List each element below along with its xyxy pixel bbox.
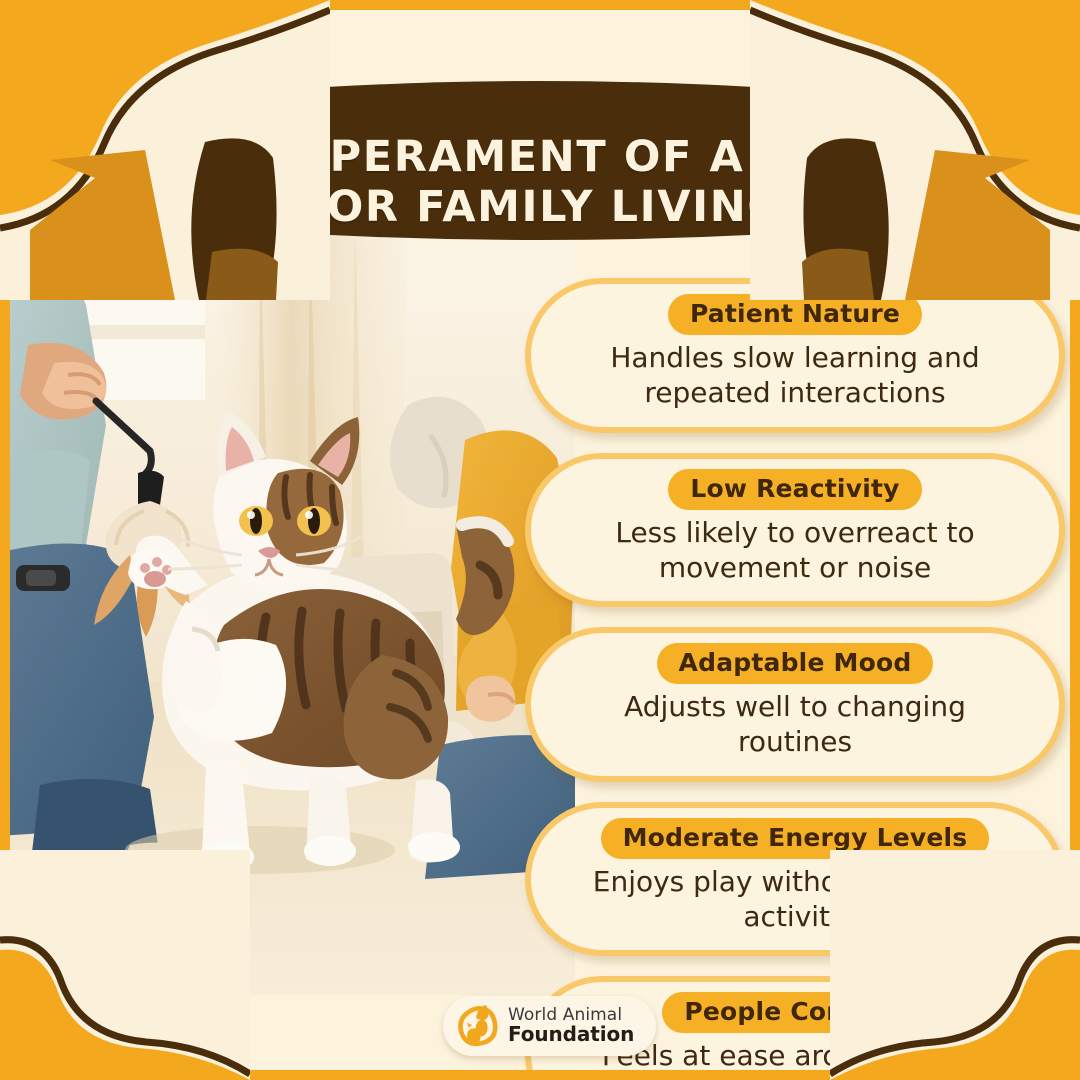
- trait-title: Patient Nature: [668, 294, 922, 335]
- infographic-poster: Temperament of a Cat for Family Living P…: [0, 0, 1080, 1080]
- brand-name-line-2: Foundation: [508, 1024, 634, 1044]
- corner-decoration-bottom-right: [830, 850, 1080, 1080]
- trait-title: Adaptable Mood: [657, 643, 934, 684]
- corner-decoration-bottom-left: [0, 850, 250, 1080]
- trait-description: Adjusts well to changing routines: [557, 689, 1033, 760]
- trait-description: Handles slow learning and repeated inter…: [557, 340, 1033, 411]
- brand-logo-badge[interactable]: World Animal Foundation: [443, 996, 656, 1056]
- trait-title: Low Reactivity: [668, 469, 921, 510]
- trait-card[interactable]: Patient Nature Handles slow learning and…: [525, 278, 1065, 433]
- trait-card[interactable]: Adaptable Mood Adjusts well to changing …: [525, 627, 1065, 782]
- animal-silhouettes-circle-icon: [457, 1005, 499, 1047]
- corner-decoration-top-left: [0, 0, 330, 300]
- corner-decoration-top-right: [750, 0, 1080, 300]
- trait-description: Less likely to overreact to movement or …: [557, 515, 1033, 586]
- brand-logo-text: World Animal Foundation: [508, 1007, 634, 1045]
- trait-card[interactable]: Low Reactivity Less likely to overreact …: [525, 453, 1065, 608]
